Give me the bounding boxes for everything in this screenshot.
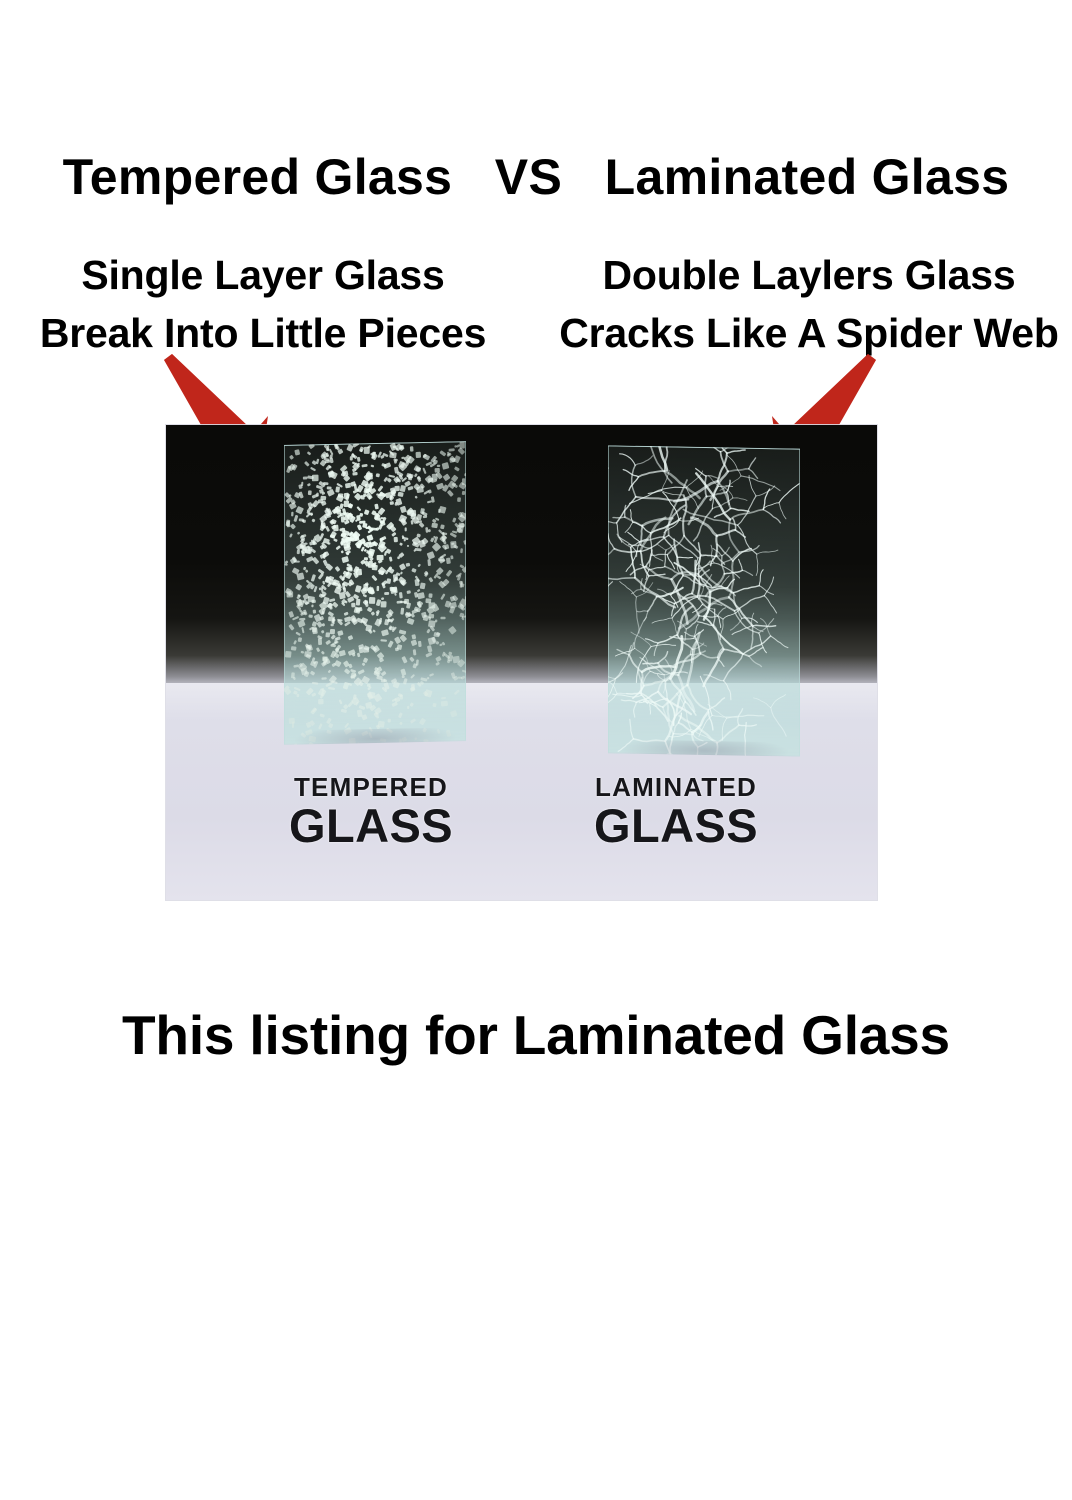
photo-label-tempered: TEMPERED GLASS	[218, 773, 524, 851]
caption-laminated-line-2: Cracks Like A Spider Web	[546, 304, 1072, 362]
photo-label-laminated: LAMINATED GLASS	[518, 773, 834, 851]
caption-laminated-line-1: Double Laylers Glass	[546, 246, 1072, 304]
spider-web-cracks-texture	[608, 445, 800, 756]
shattered-fragments-texture	[284, 441, 466, 745]
page-title: Tempered Glass VS Laminated Glass	[0, 148, 1072, 206]
caption-tempered-line-2: Break Into Little Pieces	[0, 304, 526, 362]
listing-note: This listing for Laminated Glass	[0, 1000, 1072, 1070]
caption-tempered-line-1: Single Layer Glass	[0, 246, 526, 304]
laminated-glass-panel	[608, 445, 800, 756]
photo-label-laminated-small: LAMINATED	[518, 773, 834, 801]
caption-tempered: Single Layer Glass Break Into Little Pie…	[0, 246, 532, 362]
caption-row: Single Layer Glass Break Into Little Pie…	[0, 246, 1072, 362]
photo-label-tempered-small: TEMPERED	[218, 773, 524, 801]
tempered-glass-panel	[284, 441, 466, 745]
photo-label-laminated-big: GLASS	[518, 801, 834, 851]
photo-label-tempered-big: GLASS	[218, 801, 524, 851]
comparison-photo: TEMPERED GLASS LAMINATED GLASS	[166, 425, 877, 900]
caption-laminated: Double Laylers Glass Cracks Like A Spide…	[532, 246, 1072, 362]
